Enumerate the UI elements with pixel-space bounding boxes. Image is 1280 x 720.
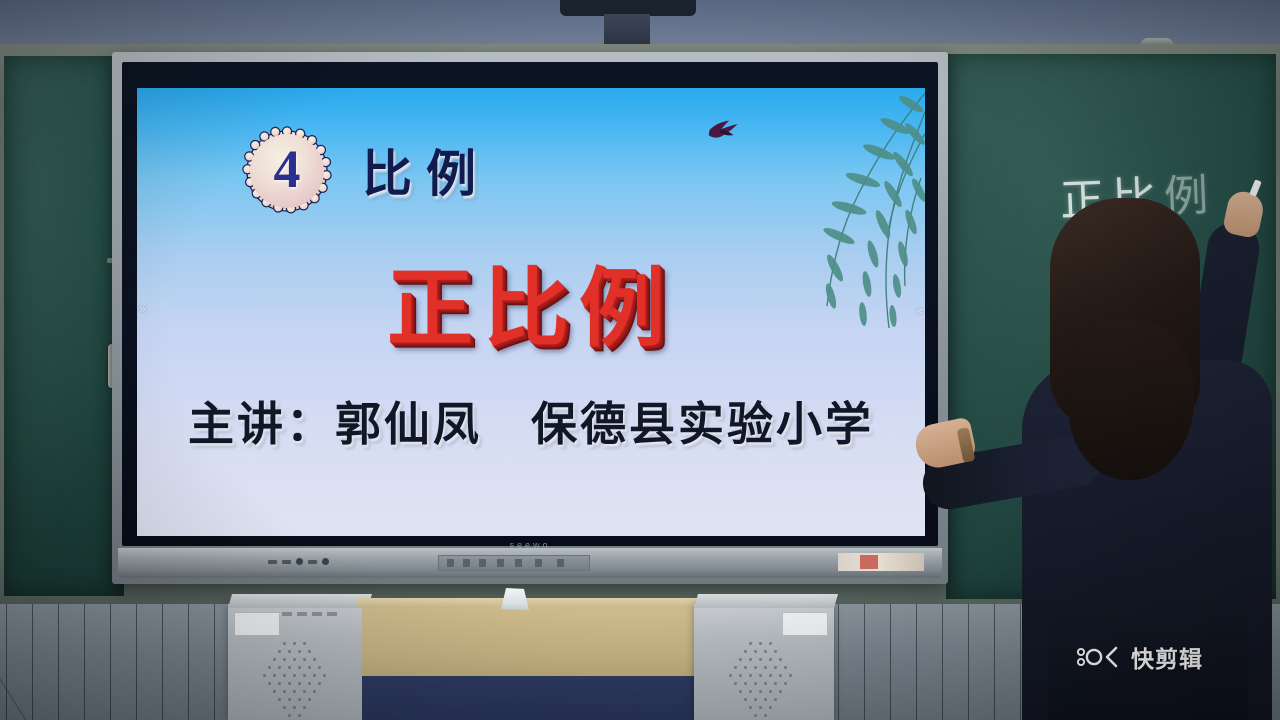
speaker-grille-hole xyxy=(318,682,321,685)
speaker-grille-hole xyxy=(789,674,792,677)
speaker-grille-hole xyxy=(764,650,767,653)
speaker-grille-hole xyxy=(288,650,291,653)
speaker-grille-hole xyxy=(764,714,767,717)
speaker-grille-hole xyxy=(288,682,291,685)
wainscot-slat xyxy=(6,604,7,720)
speaker-grille-hole xyxy=(313,690,316,693)
tissue-sheet xyxy=(501,588,529,610)
speaker-grille-hole xyxy=(298,682,301,685)
slide-main-title: 正比例 xyxy=(137,238,925,363)
speaker-grille-hole xyxy=(303,706,306,709)
teaching-podium xyxy=(362,604,698,720)
speaker-grille-hole xyxy=(754,714,757,717)
speaker-grille-hole xyxy=(303,658,306,661)
video-frame: 正比例 xyxy=(0,0,1280,720)
panel-button-row[interactable] xyxy=(268,558,329,565)
speaker-grille-hole xyxy=(774,650,777,653)
panel-button-3[interactable] xyxy=(308,560,317,564)
speaker-grille-hole xyxy=(774,682,777,685)
speaker-grille-hole xyxy=(764,666,767,669)
blackboard-panel-left[interactable] xyxy=(4,56,124,596)
speaker-right-top xyxy=(694,594,838,608)
speaker-grille-hole xyxy=(769,690,772,693)
speaker-grille-hole xyxy=(744,650,747,653)
tissue-paper xyxy=(497,588,533,612)
speaker-grille-hole xyxy=(754,650,757,653)
speaker-grille-hole xyxy=(764,698,767,701)
speaker-grille-hole xyxy=(303,690,306,693)
speaker-grille-hole xyxy=(318,666,321,669)
speaker-grille-hole xyxy=(759,658,762,661)
speaker-grille-hole xyxy=(784,666,787,669)
speaker-grille-hole xyxy=(739,674,742,677)
panel-sensor xyxy=(322,558,329,565)
speaker-grille-hole xyxy=(308,682,311,685)
speaker-grille-hole xyxy=(769,706,772,709)
speaker-grille-hole xyxy=(754,666,757,669)
wainscot-slat xyxy=(32,604,33,720)
projector-arm xyxy=(604,14,650,48)
speaker-grille-hole xyxy=(739,690,742,693)
wainscot-diagonal-mark xyxy=(0,614,71,720)
wainscot-slat xyxy=(188,604,189,720)
speaker-grille-hole xyxy=(283,674,286,677)
slide-presenter-line: 主讲：郭仙凤 保德县实验小学 xyxy=(137,388,925,454)
speaker-grille-hole xyxy=(278,698,281,701)
speaker-right-label xyxy=(782,612,828,636)
podium-base xyxy=(362,676,698,720)
watermark: 快剪辑 xyxy=(1076,640,1203,674)
speaker-grille-hole xyxy=(298,698,301,701)
speaker-grille-hole xyxy=(734,666,737,669)
speaker-grille-hole xyxy=(308,666,311,669)
speaker-left-grille xyxy=(250,642,346,720)
speaker-cabinet-left xyxy=(228,604,368,720)
speaker-grille-hole xyxy=(769,658,772,661)
speaker-grille-hole xyxy=(749,706,752,709)
speaker-grille-hole xyxy=(273,690,276,693)
speaker-grille-hole xyxy=(759,674,762,677)
speaker-grille-hole xyxy=(293,658,296,661)
speaker-grille-hole xyxy=(283,690,286,693)
speaker-grille-hole xyxy=(293,674,296,677)
panel-sticker xyxy=(838,553,924,571)
speaker-right-grille xyxy=(716,642,812,720)
teacher-hair-lower xyxy=(1068,320,1194,480)
speaker-grille-hole xyxy=(749,690,752,693)
speaker-grille-hole xyxy=(288,698,291,701)
speaker-grille-hole xyxy=(278,666,281,669)
speaker-grille-hole xyxy=(744,682,747,685)
speaker-grille-hole xyxy=(273,674,276,677)
speaker-grille-hole xyxy=(268,682,271,685)
panel-button-2[interactable] xyxy=(282,560,291,564)
speaker-grille-hole xyxy=(729,674,732,677)
panel-io-ports[interactable] xyxy=(438,555,590,571)
speaker-grille-hole xyxy=(754,682,757,685)
wainscot-slat xyxy=(916,604,917,720)
sticker-red-mark xyxy=(860,555,878,569)
speaker-grille-hole xyxy=(739,658,742,661)
speaker-grille-hole xyxy=(784,682,787,685)
speaker-grille-hole xyxy=(774,666,777,669)
wainscot-slat xyxy=(58,604,59,720)
speaker-grille-hole xyxy=(749,658,752,661)
screen-left-handle-arrow[interactable]: » xyxy=(139,302,146,316)
speaker-grille-hole xyxy=(308,650,311,653)
wainscot-slat xyxy=(162,604,163,720)
speaker-grille-hole xyxy=(288,666,291,669)
speaker-grille-hole xyxy=(278,650,281,653)
speaker-left-controls[interactable] xyxy=(282,612,337,616)
chapter-label: 比例 xyxy=(362,134,490,206)
speaker-grille-hole xyxy=(303,674,306,677)
speaker-grille-hole xyxy=(774,698,777,701)
speaker-grille-hole xyxy=(759,642,762,645)
speaker-grille-hole xyxy=(779,674,782,677)
speaker-grille-hole xyxy=(293,706,296,709)
wainscot-slat xyxy=(110,604,111,720)
wainscot-slat xyxy=(214,604,215,720)
speaker-grille-hole xyxy=(303,642,306,645)
speaker-grille-hole xyxy=(288,714,291,717)
panel-control-bar: seewo xyxy=(118,548,942,578)
wainscot-slat xyxy=(890,604,891,720)
screen-right-handle-arrow[interactable]: « xyxy=(916,304,923,318)
panel-power-button[interactable] xyxy=(296,558,303,565)
wainscot-slat xyxy=(864,604,865,720)
speaker-grille-hole xyxy=(293,690,296,693)
speaker-grille-hole xyxy=(769,642,772,645)
teacher-figure xyxy=(930,170,1280,720)
speaker-grille-hole xyxy=(759,690,762,693)
speaker-left-top xyxy=(228,594,372,608)
speaker-grille-hole xyxy=(293,642,296,645)
speaker-grille-hole xyxy=(313,674,316,677)
device-brand-label: seewo xyxy=(118,540,942,550)
speaker-grille-hole xyxy=(769,674,772,677)
speaker-grille-hole xyxy=(744,698,747,701)
wainscot-slat xyxy=(84,604,85,720)
panel-button-1[interactable] xyxy=(268,560,277,564)
speaker-cabinet-right xyxy=(694,604,834,720)
speaker-grille-hole xyxy=(779,658,782,661)
watermark-brand-text: 快剪辑 xyxy=(1131,640,1203,674)
kuaijianji-logo-icon xyxy=(1076,646,1122,668)
teacher-writing-hand xyxy=(1222,189,1266,240)
speaker-grille-hole xyxy=(283,642,286,645)
chapter-number: 4 xyxy=(241,125,333,217)
speaker-grille-hole xyxy=(764,682,767,685)
speaker-grille-hole xyxy=(278,682,281,685)
speaker-grille-hole xyxy=(268,666,271,669)
chalk-icon xyxy=(1249,179,1261,196)
speaker-grille-hole xyxy=(263,674,266,677)
speaker-grille-hole xyxy=(283,706,286,709)
speaker-grille-hole xyxy=(759,706,762,709)
wainscot-slat xyxy=(838,604,839,720)
speaker-grille-hole xyxy=(754,698,757,701)
speaker-grille-hole xyxy=(298,650,301,653)
flying-bird-icon xyxy=(707,116,741,144)
speaker-grille-hole xyxy=(308,698,311,701)
speaker-grille-hole xyxy=(749,674,752,677)
speaker-grille-hole xyxy=(744,666,747,669)
speaker-grille-hole xyxy=(313,658,316,661)
speaker-grille-hole xyxy=(779,690,782,693)
speaker-grille-hole xyxy=(273,658,276,661)
speaker-left-label xyxy=(234,612,280,636)
speaker-grille-hole xyxy=(298,666,301,669)
speaker-grille-hole xyxy=(298,714,301,717)
wainscot-slat xyxy=(136,604,137,720)
speaker-grille-hole xyxy=(749,642,752,645)
speaker-grille-hole xyxy=(323,674,326,677)
presentation-screen[interactable]: 4 比例 正比例 主讲：郭仙凤 保德县实验小学 » « xyxy=(137,88,925,536)
speaker-grille-hole xyxy=(734,682,737,685)
speaker-grille-hole xyxy=(283,658,286,661)
chapter-badge: 4 xyxy=(241,125,333,217)
